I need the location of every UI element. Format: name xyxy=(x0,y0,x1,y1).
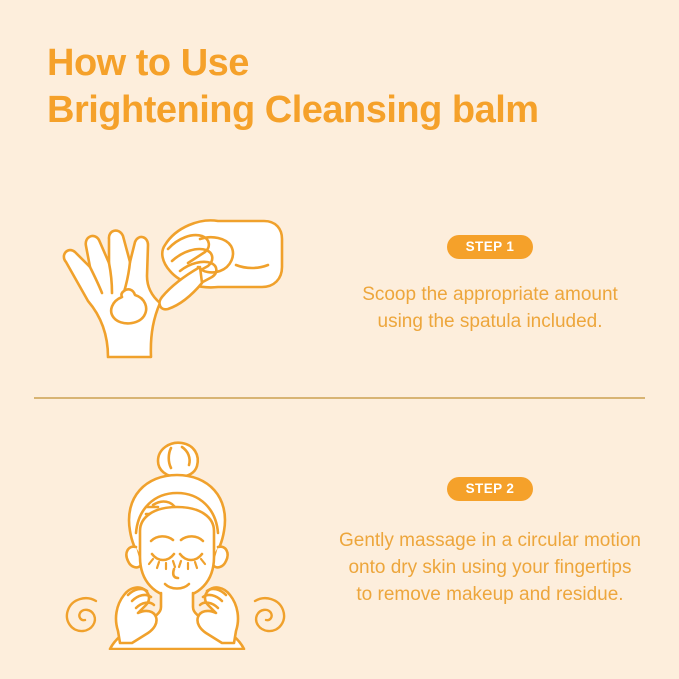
step-1-illustration-container xyxy=(30,180,320,390)
page-title: How to Use Brightening Cleansing balm xyxy=(47,40,647,134)
step-2-illustration-container xyxy=(30,425,320,660)
title-line-1: How to Use xyxy=(47,40,647,86)
step-2-section: STEP 2 Gently massage in a circular moti… xyxy=(0,425,679,660)
step-2-text: Gently massage in a circular motion onto… xyxy=(339,527,641,608)
woman-massaging-face-illustration xyxy=(58,435,293,650)
step-1-copy: STEP 1 Scoop the appropriate amount usin… xyxy=(325,180,655,390)
how-to-use-infographic: How to Use Brightening Cleansing balm xyxy=(0,0,679,679)
title-line-2: Brightening Cleansing balm xyxy=(47,86,647,134)
step-1-text: Scoop the appropriate amount using the s… xyxy=(362,281,618,335)
section-divider xyxy=(34,397,645,399)
step-2-badge: STEP 2 xyxy=(447,477,534,502)
step-1-badge: STEP 1 xyxy=(447,235,534,260)
step-2-copy: STEP 2 Gently massage in a circular moti… xyxy=(325,425,655,660)
step-1-section: STEP 1 Scoop the appropriate amount usin… xyxy=(0,180,679,390)
two-hands-with-balm-illustration xyxy=(50,205,300,365)
